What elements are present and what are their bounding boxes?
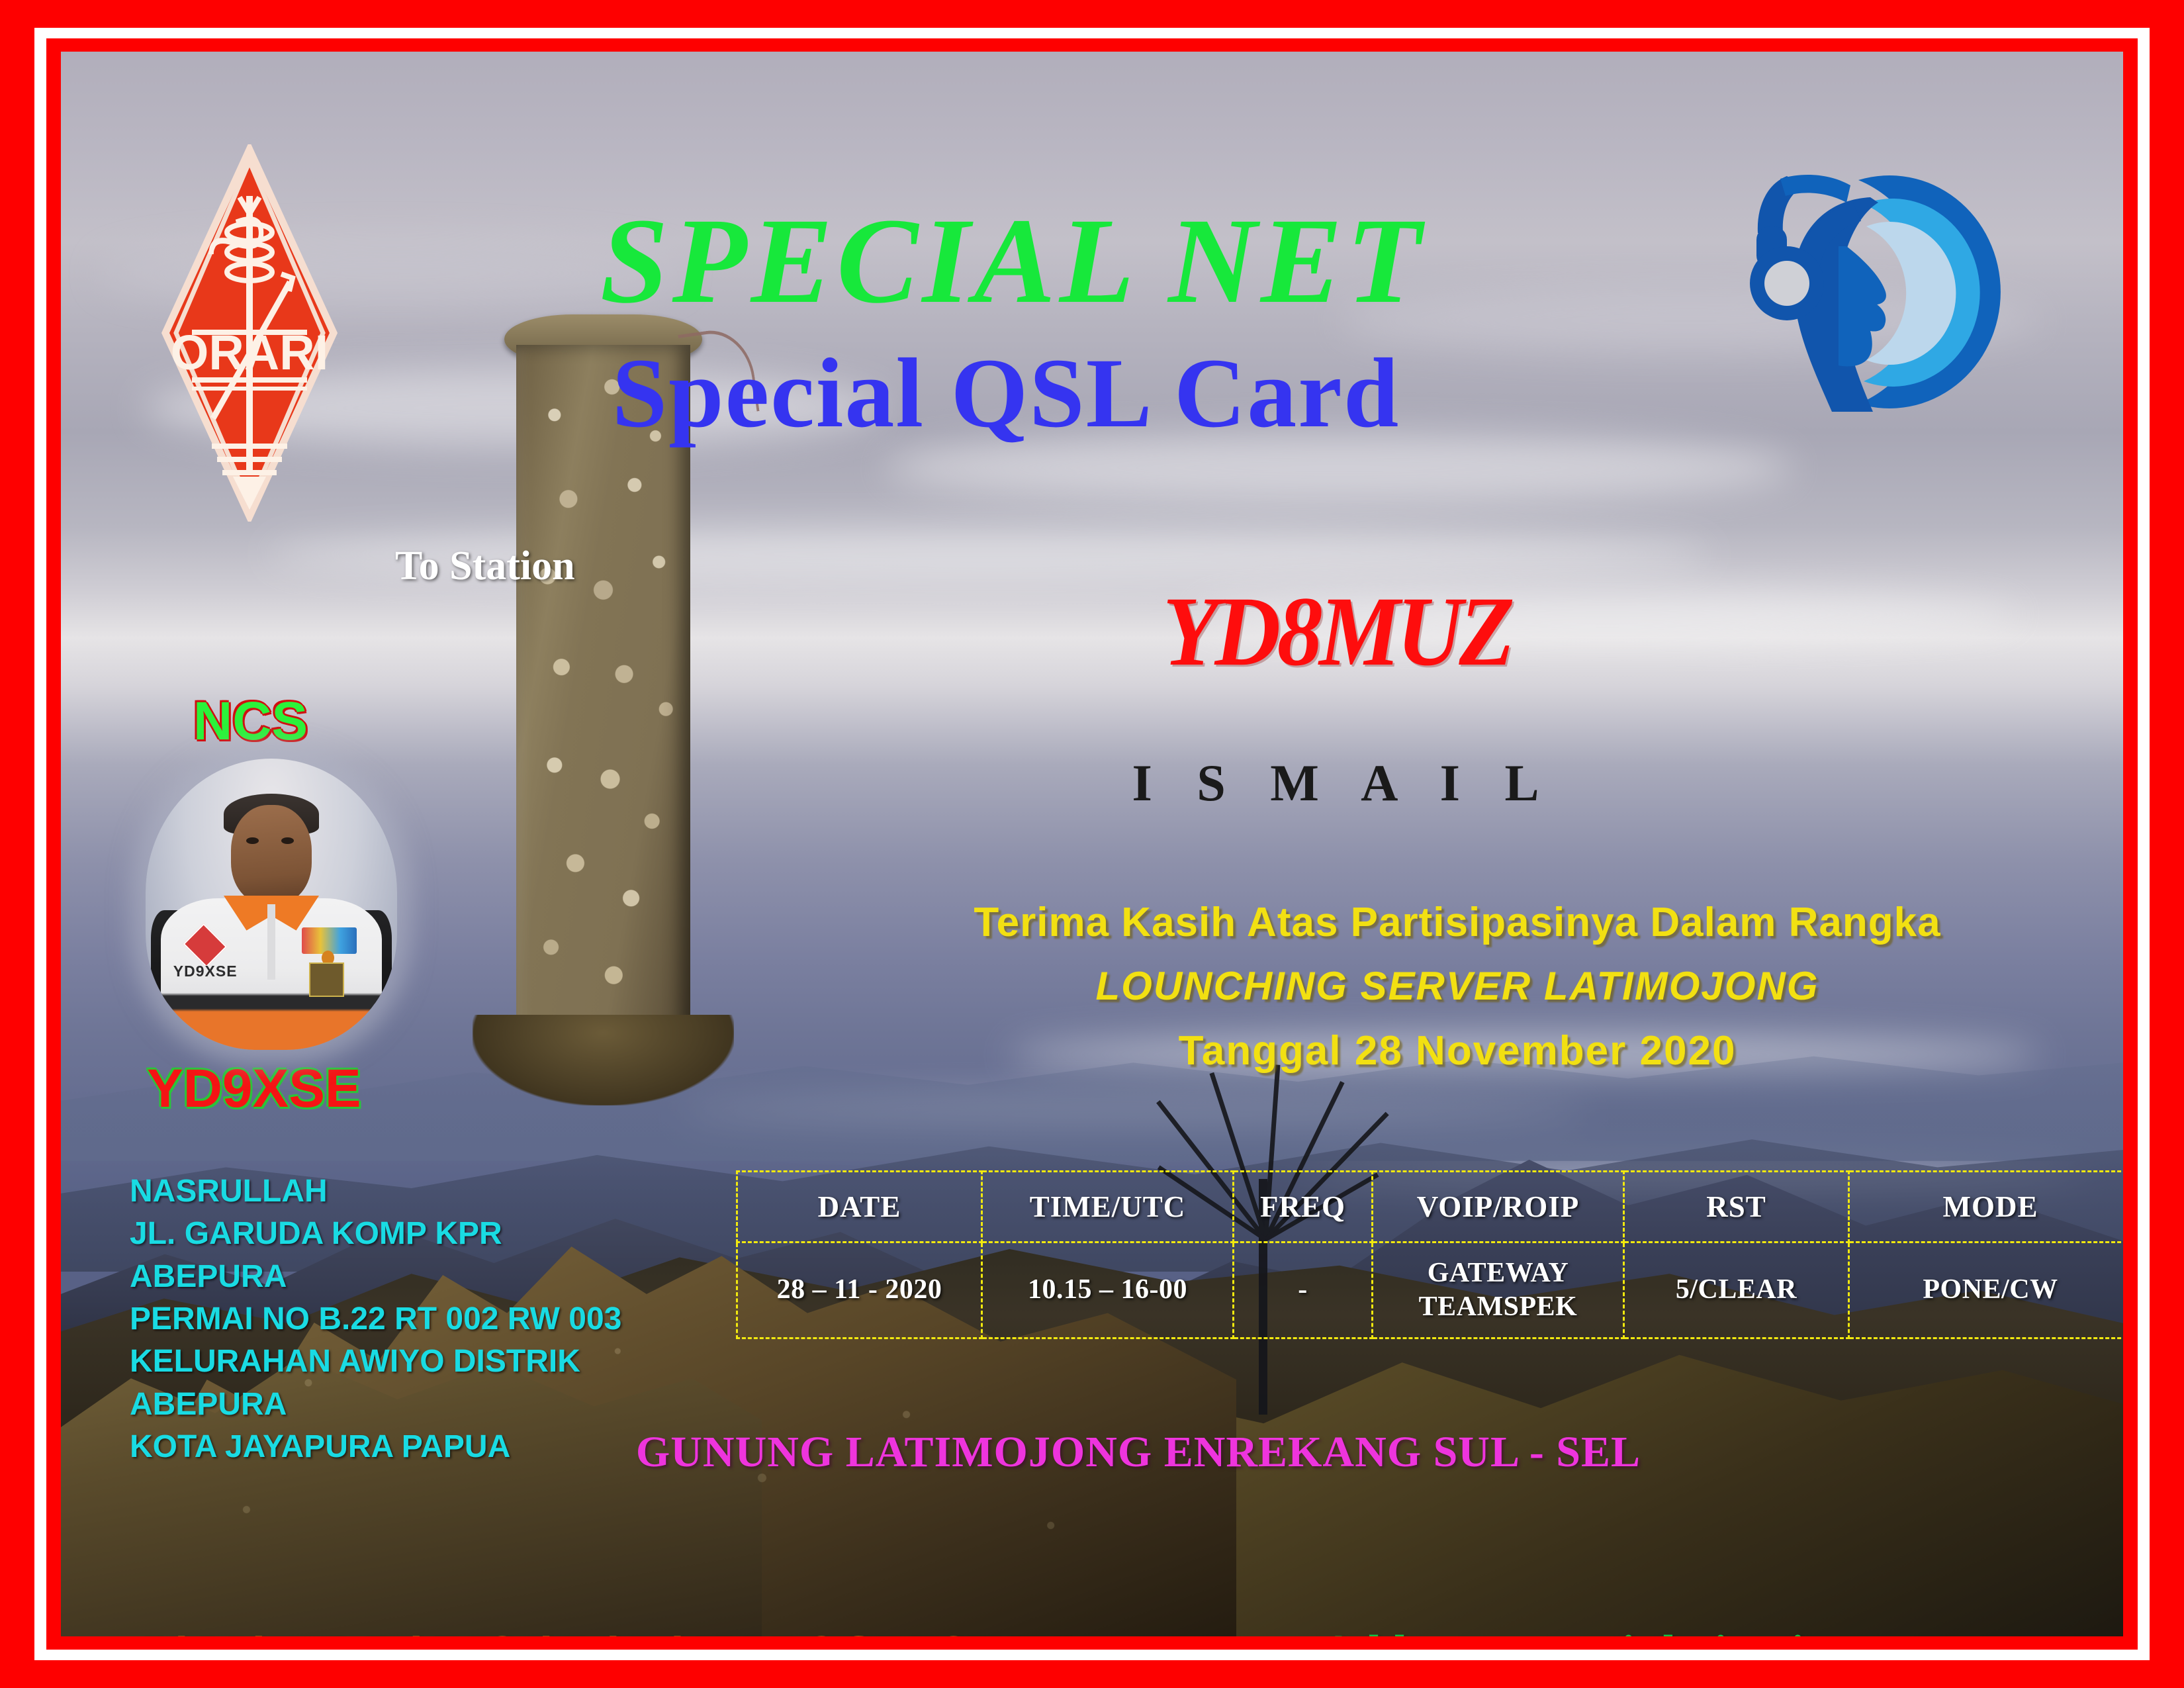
column-header-freq: FREQ [1234,1172,1373,1243]
thanks-line-3: Tanggal 28 November 2020 [822,1027,2093,1074]
address-line: NASRULLAH [130,1170,621,1213]
table-row: 28 – 11 - 2020 10.15 – 16-00 - GATEWAY T… [737,1243,2124,1338]
cell-voip-roip-line2: TEAMSPEK [1374,1290,1622,1324]
table-header-row: DATE TIME/UTC FREQ VOIP/ROIP RST MODE [737,1172,2124,1243]
thanks-block: Terima Kasih Atas Partisipasinya Dalam R… [822,899,2093,1074]
ncs-label: NCS [193,690,308,753]
column-header-rst: RST [1624,1172,1849,1243]
card-inner-red-border: ORARI [46,38,2138,1650]
ncs-callsign: YD9XSE [147,1058,361,1120]
station-callsign: YD8MUZ [388,575,2123,688]
qso-log-table: DATE TIME/UTC FREQ VOIP/ROIP RST MODE 28… [736,1170,2123,1339]
thanks-line-2: LOUNCHING SERVER LATIMOJONG [822,963,2093,1009]
cell-voip-roip-line1: GATEWAY [1374,1256,1622,1290]
cell-time: 10.15 – 16-00 [982,1243,1234,1338]
address-line: PERMAI NO B.22 RT 002 RW 003 [130,1298,621,1340]
address-line: KELURAHAN AWIYO DISTRIK [130,1340,621,1383]
cell-freq: - [1234,1243,1373,1338]
motto-text: "AMATIR RADIO ADALAH PROGRESIVE" [139,1626,1073,1636]
page-title: SPECIAL NET [61,191,2044,332]
thanks-line-1: Terima Kasih Atas Partisipasinya Dalam R… [822,899,2093,946]
ncs-operator-photo: YD9XSE [146,759,397,1050]
address-block: NASRULLAH JL. GARUDA KOMP KPR ABEPURA PE… [130,1170,621,1468]
card-photo-area: ORARI [61,52,2123,1636]
address-line: ABEPURA [130,1256,621,1298]
operator-name: I S M A I L [312,753,2123,813]
address-line: ABEPURA [130,1383,621,1426]
column-header-mode: MODE [1849,1172,2124,1243]
column-header-voip-roip: VOIP/ROIP [1373,1172,1624,1243]
location-line: GUNUNG LATIMOJONG ENREKANG SUL - SEL [107,1427,2123,1477]
card-white-gap: ORARI [34,28,2150,1660]
cell-mode: PONE/CW [1849,1243,2124,1338]
cell-date: 28 – 11 - 2020 [737,1243,982,1338]
website-address: Address : amatir.latimojong.com [1322,1626,1970,1636]
page-subtitle: Special QSL Card [61,336,2037,450]
address-line: JL. GARUDA KOMP KPR [130,1213,621,1255]
cell-rst: 5/CLEAR [1624,1243,1849,1338]
shirt-callsign-text: YD9XSE [173,962,238,980]
qsl-card: ORARI [0,0,2184,1688]
column-header-date: DATE [737,1172,982,1243]
column-header-time: TIME/UTC [982,1172,1234,1243]
cell-voip-roip: GATEWAY TEAMSPEK [1373,1243,1624,1338]
